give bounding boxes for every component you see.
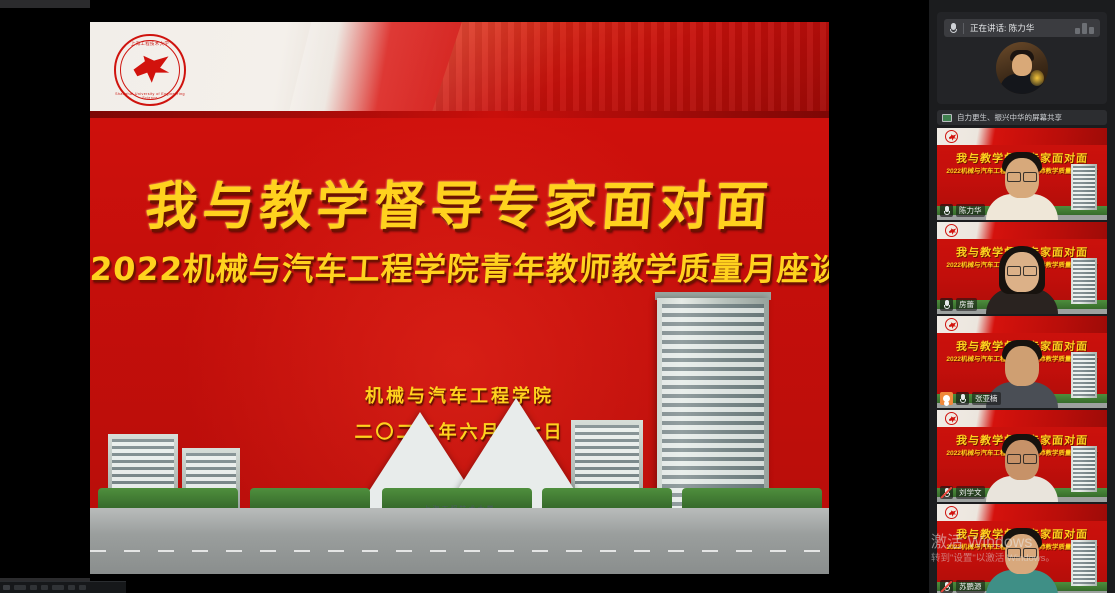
university-logo-icon [945, 412, 958, 425]
mic-icon[interactable] [956, 392, 969, 405]
taskbar-icon[interactable] [79, 585, 86, 590]
logo-text-bottom: Shanghai University of Engineering Scien… [114, 92, 186, 100]
taskbar-icon[interactable] [14, 585, 26, 590]
participant-name: 房蕾 [956, 298, 977, 311]
slide-title: 我与教学督导专家面对面 [90, 164, 829, 239]
campus-illustration: 上海工程技术大学 [90, 274, 829, 574]
presentation-slide: 上海工程技术大学 Shanghai University of Engineer… [90, 22, 829, 574]
mic-icon [950, 23, 957, 34]
campus-tower-building [657, 298, 769, 508]
participant-tile[interactable]: 我与教学督导专家面对面 2022机械与汽车工程学院青年教师教学质量月座谈会 苏鹏… [937, 504, 1107, 593]
participant-name: 苏鹏源 [956, 580, 985, 593]
taskbar-icon[interactable] [41, 585, 48, 590]
logo-text-top: 上海工程技术大学 [114, 41, 186, 47]
audio-wave-icon [1075, 23, 1094, 34]
windows-taskbar[interactable] [0, 581, 126, 593]
glasses-icon [1007, 548, 1037, 556]
participant-thumbnail-list[interactable]: 我与教学督导专家面对面 2022机械与汽车工程学院青年教师教学质量月座谈会 陈力… [937, 128, 1107, 593]
university-logo-icon [945, 130, 958, 143]
taskbar-icon[interactable] [68, 585, 75, 590]
taskbar-icon[interactable] [52, 585, 64, 590]
participant-video [985, 434, 1059, 502]
zoom-meeting-window: 上海工程技术大学 Shanghai University of Engineer… [0, 0, 1115, 593]
university-logo-icon [945, 506, 958, 519]
participant-badges: 苏鹏源 [940, 580, 985, 593]
taskbar-icon[interactable] [3, 585, 10, 590]
header-bottom-band [90, 111, 829, 118]
screen-share-label: 自力更生、振兴中华的屏幕共享 [957, 112, 1062, 123]
screen-share-icon [942, 114, 952, 122]
university-logo-icon [945, 318, 958, 331]
plaza-road-marking [90, 550, 829, 552]
screen-share-indicator[interactable]: 自力更生、振兴中华的屏幕共享 [937, 110, 1107, 125]
participant-tile[interactable]: 我与教学督导专家面对面 2022机械与汽车工程学院青年教师教学质量月座谈会 陈力… [937, 128, 1107, 220]
header-sweep-decoration [278, 22, 568, 118]
active-speaker-avatar [996, 42, 1048, 94]
participant-video [985, 152, 1059, 220]
active-speaker-panel[interactable]: 正在讲话: 陈力华 [937, 12, 1107, 104]
glasses-icon [1007, 454, 1037, 462]
desktop-black-area [0, 8, 90, 578]
participant-name: 陈力华 [956, 204, 985, 217]
participant-name: 张亚楠 [972, 392, 1001, 405]
campus-plaza [90, 508, 829, 574]
participant-tile[interactable]: 我与教学督导专家面对面 2022机械与汽车工程学院青年教师教学质量月座谈会 刘学… [937, 410, 1107, 502]
university-logo-icon: 上海工程技术大学 Shanghai University of Engineer… [114, 34, 186, 106]
participant-badges: 房蕾 [940, 298, 977, 311]
desktop-background [0, 0, 90, 593]
university-logo-icon [945, 224, 958, 237]
glasses-icon [1007, 172, 1037, 180]
participants-sidebar: 正在讲话: 陈力华 自力更生、振兴中华的屏幕共享 我与教学督导专家面 [929, 0, 1115, 593]
glasses-icon [1007, 266, 1037, 274]
participant-badges: 张亚楠 [940, 392, 1001, 405]
mic-muted-icon[interactable] [940, 580, 953, 593]
active-speaker-bar: 正在讲话: 陈力华 [944, 19, 1100, 37]
participant-name: 刘学文 [956, 486, 985, 499]
mic-icon[interactable] [940, 204, 953, 217]
slide-header-banner: 上海工程技术大学 Shanghai University of Engineer… [90, 22, 829, 118]
divider [963, 23, 964, 34]
participant-tile[interactable]: 我与教学督导专家面对面 2022机械与汽车工程学院青年教师教学质量月座谈会 张亚… [937, 316, 1107, 408]
participant-tile[interactable]: 我与教学督导专家面对面 2022机械与汽车工程学院青年教师教学质量月座谈会 房蕾 [937, 222, 1107, 314]
shared-screen-view[interactable]: 上海工程技术大学 Shanghai University of Engineer… [90, 22, 829, 574]
taskbar-icon[interactable] [30, 585, 37, 590]
host-badge-icon [940, 392, 953, 405]
participant-badges: 刘学文 [940, 486, 985, 499]
participant-video [985, 246, 1059, 314]
mic-muted-icon[interactable] [940, 486, 953, 499]
active-speaker-label: 正在讲话: 陈力华 [970, 22, 1034, 34]
participant-video [985, 528, 1059, 593]
mic-icon[interactable] [940, 298, 953, 311]
participant-badges: 陈力华 [940, 204, 985, 217]
